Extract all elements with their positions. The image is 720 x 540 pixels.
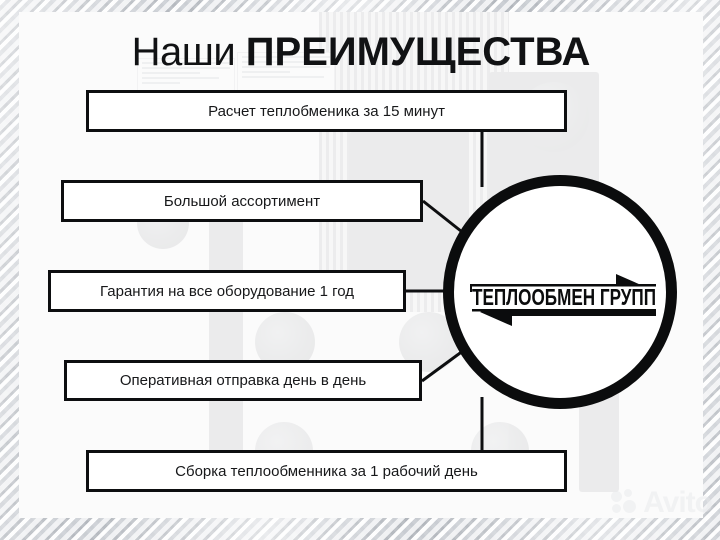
feature-label: Сборка теплообменника за 1 рабочий день <box>175 463 478 480</box>
feature-box-shipping[interactable]: Оперативная отправка день в день <box>64 360 422 401</box>
content-panel: Наши ПРЕИМУЩЕСТВА ТЕПЛООБМ <box>19 12 703 518</box>
feature-box-assembly[interactable]: Сборка теплообменника за 1 рабочий день <box>86 450 567 492</box>
feature-box-calculation[interactable]: Расчет теплобменика за 15 минут <box>86 90 567 132</box>
company-logo: ТЕПЛООБМЕН ГРУПП <box>466 264 662 326</box>
feature-label: Оперативная отправка день в день <box>120 372 366 389</box>
logo-wordmark: ТЕПЛООБМЕН ГРУПП <box>472 284 656 310</box>
poster-canvas: Наши ПРЕИМУЩЕСТВА ТЕПЛООБМ <box>0 0 720 540</box>
feature-label: Большой ассортимент <box>164 193 320 210</box>
feature-box-assortment[interactable]: Большой ассортимент <box>61 180 423 222</box>
feature-box-warranty[interactable]: Гарантия на все оборудование 1 год <box>48 270 406 312</box>
logo-artwork: ТЕПЛООБМЕН ГРУПП <box>466 264 662 326</box>
feature-label: Гарантия на все оборудование 1 год <box>100 283 354 300</box>
avito-watermark: Avito <box>611 488 712 518</box>
feature-label: Расчет теплобменика за 15 минут <box>208 103 445 120</box>
avito-wordmark: Avito <box>643 488 712 518</box>
avito-dots-icon <box>611 489 639 517</box>
